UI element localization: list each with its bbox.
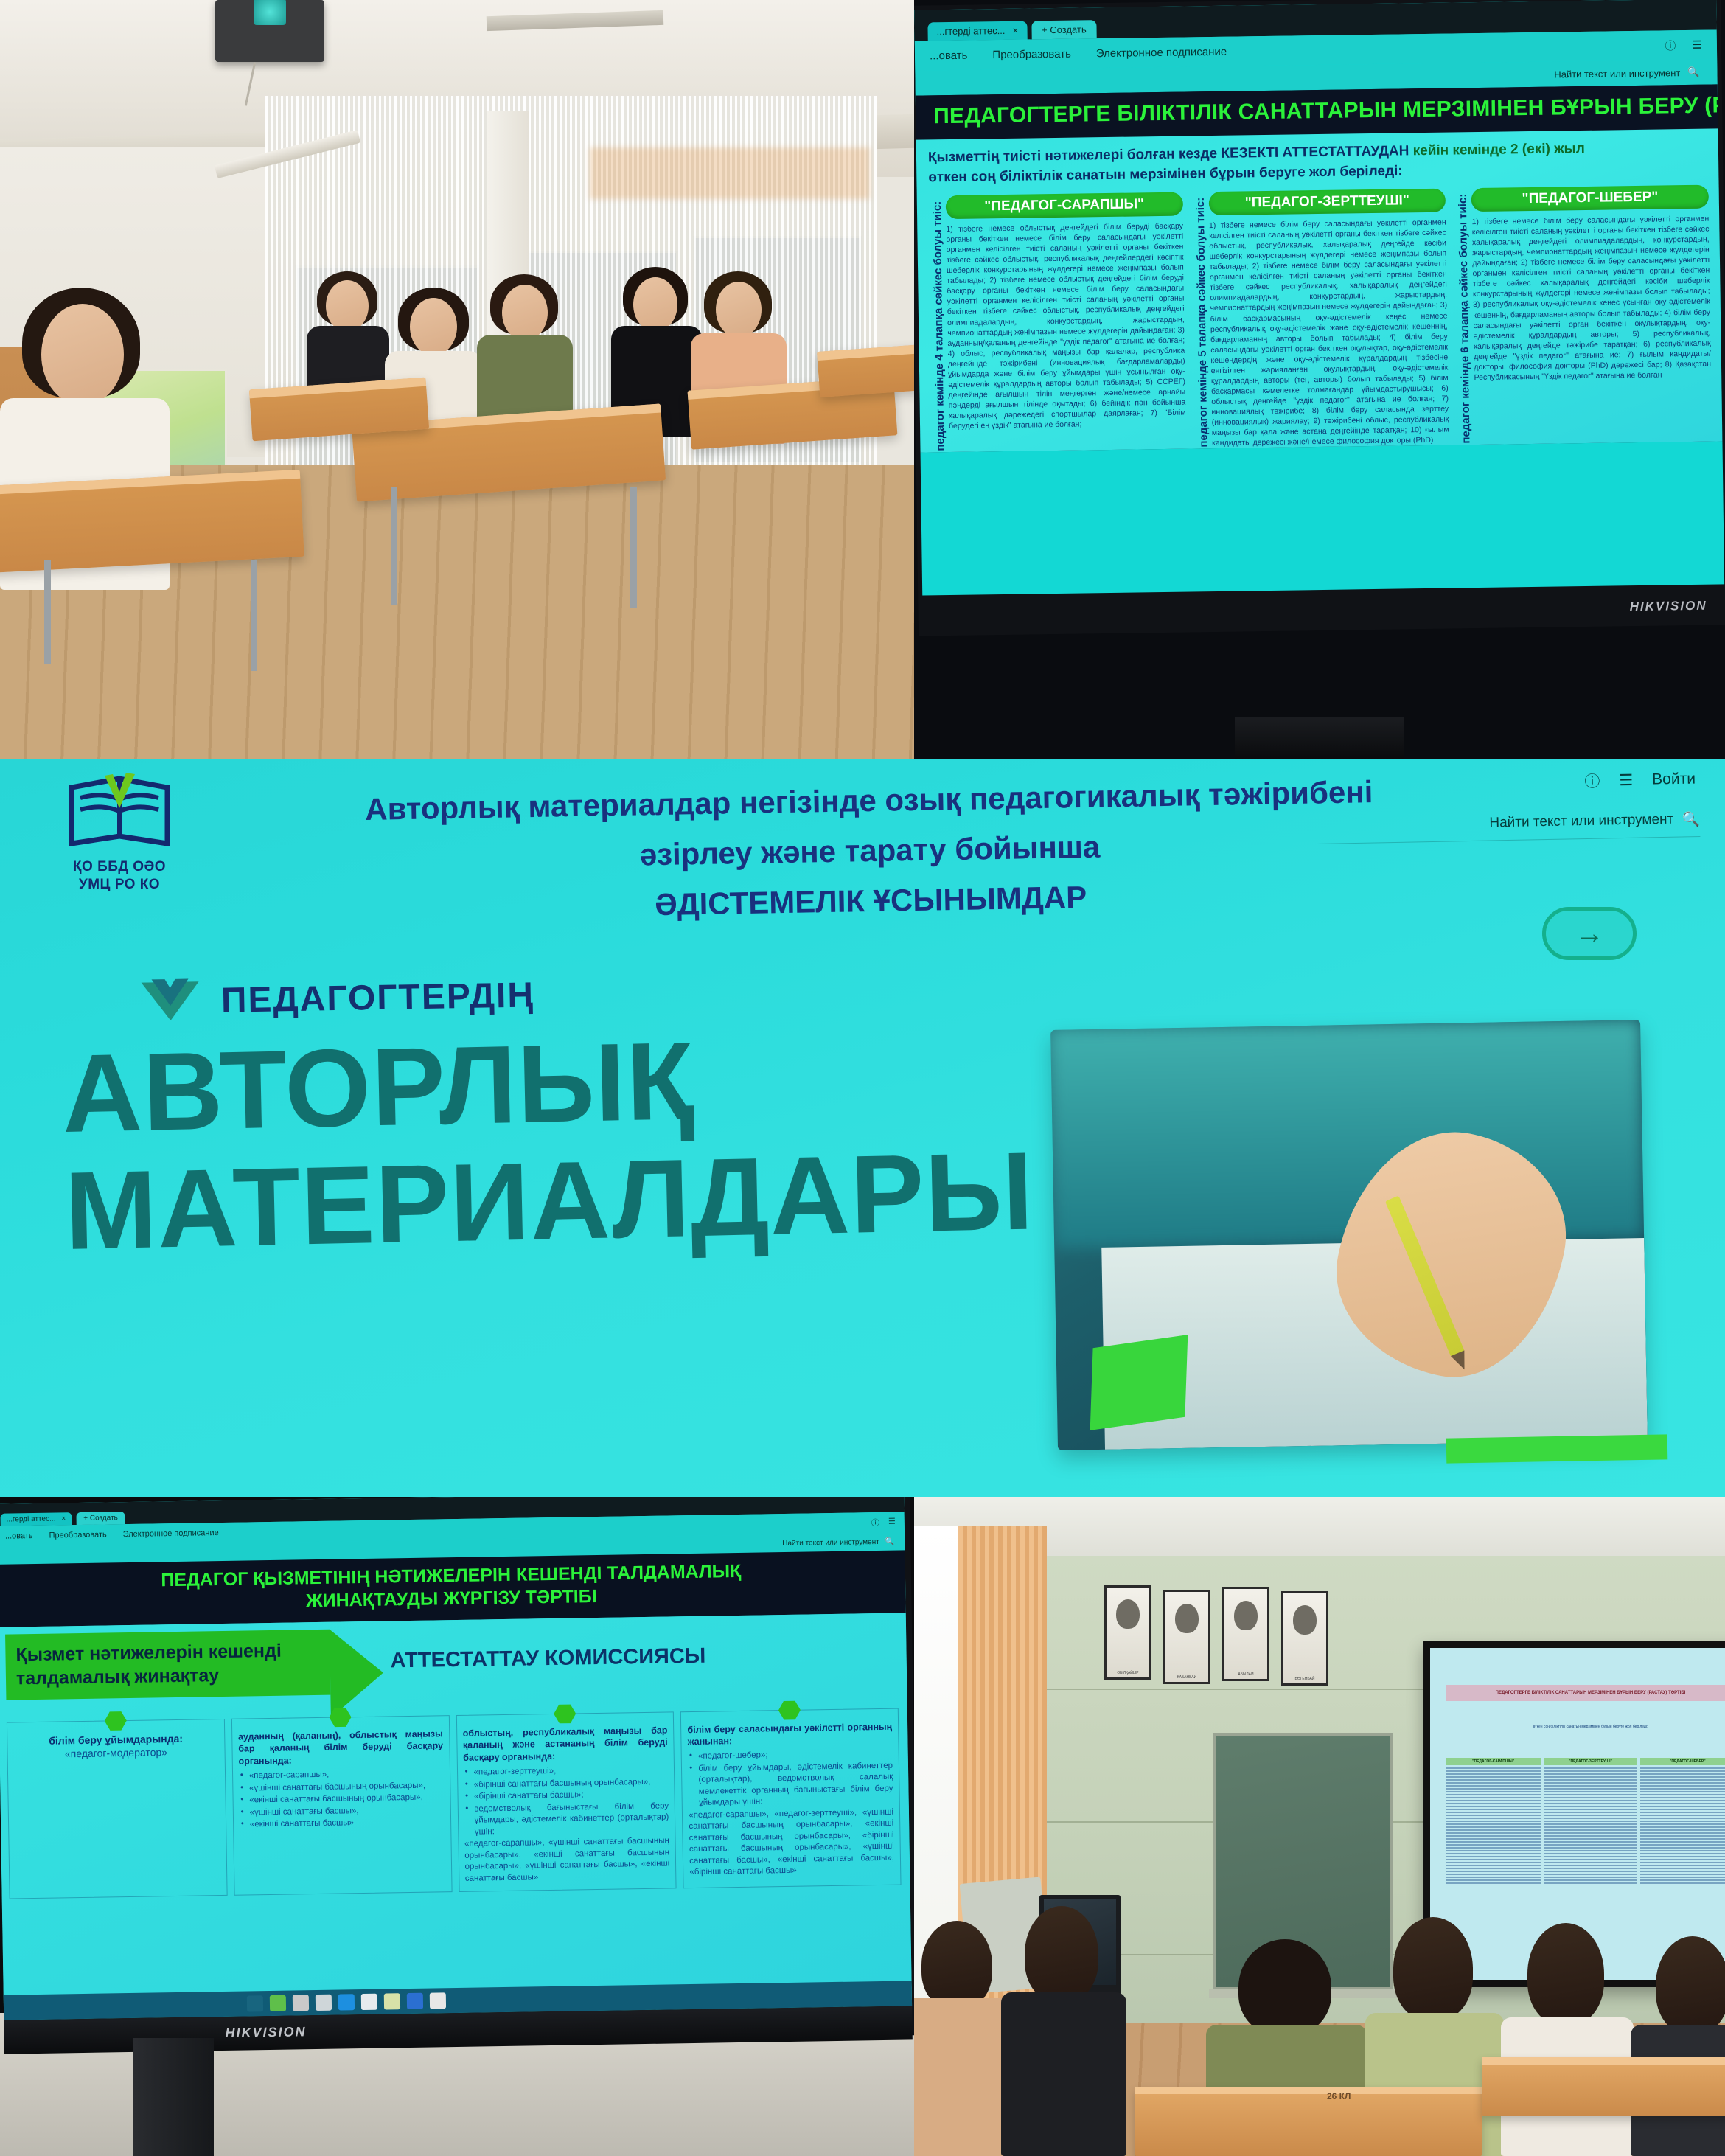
portrait-name: БӨГЕНБАЙ	[1283, 1677, 1326, 1681]
column-header: "ПЕДАГОГ-САРАПШЫ"	[1446, 1758, 1541, 1765]
brand-mark-row: ПЕДАГОГТЕРДІҢ	[139, 971, 534, 1025]
big-title-line-2: МАТЕРИАЛДАРЫ	[63, 1132, 1053, 1270]
column-text: 1) тізбеге немесе білім беру саласындағы…	[1472, 214, 1712, 383]
menu-item-esign[interactable]: Электронное подписание	[1096, 45, 1227, 59]
diagram-box: білім беру ұйымдарында: «педагог-модерат…	[7, 1718, 227, 1899]
diagram-box: білім беру саласындағы уәкілетті органны…	[680, 1708, 901, 1888]
diagram-box: ауданның (қаланың), облыстық маңызы бар …	[231, 1715, 452, 1896]
flow-row: Қызмет нәтижелерін кешенді талдамалық жи…	[5, 1620, 898, 1700]
new-tab-button[interactable]: + Создать	[1031, 20, 1097, 39]
column-text: 1) тізбеге немесе білім беру саласындағы…	[1209, 218, 1449, 449]
wall-portrait: АБЫЛАЙ	[1222, 1587, 1269, 1681]
column-vertical-label: педагог кемінде 4 талапқа сәйкес болуы т…	[929, 195, 949, 453]
logo-line-1: ҚО ББД ОӘО	[38, 858, 201, 876]
smartboard-column: "ПЕДАГОГ-САРАПШЫ"	[1446, 1758, 1541, 1885]
find-input[interactable]: Найти текст или инструмент	[782, 1537, 879, 1547]
lead-part-3: өткен соң біліктілік санатын мерзімінен …	[928, 163, 1403, 185]
new-tab-button[interactable]: + Создать	[76, 1512, 125, 1525]
box-header: облыстың, республикалық маңызы бар қалан…	[463, 1724, 669, 1764]
task-view-icon[interactable]	[247, 1995, 263, 2011]
edge-icon[interactable]	[338, 1994, 355, 2010]
slide-headline: Авторлық материалдар негізінде озық педа…	[345, 767, 1394, 936]
hexagon-bullet-icon	[554, 1704, 576, 1723]
ceiling-projector	[215, 0, 324, 62]
slide-body: Қызметтің тиісті нәтижелері болған кезде…	[916, 128, 1723, 452]
monitor-screen: ...ғтерді аттес... × + Создать ...овать …	[914, 0, 1724, 596]
photos-icon[interactable]	[316, 1995, 332, 2011]
logo-line-2: УМЦ РО КО	[38, 876, 201, 894]
open-book-with-checkmark-icon	[64, 773, 175, 854]
browser-tab[interactable]: ...ғтерді аттес... ×	[927, 21, 1027, 41]
slide-body: Қызмет нәтижелерін кешенді талдамалық жи…	[0, 1613, 912, 2003]
text-lines	[1446, 1767, 1541, 1884]
search-icon[interactable]: 🔍	[1687, 66, 1699, 78]
box-header: білім беру саласындағы уәкілетті органны…	[687, 1720, 892, 1748]
lead-emphasis: КЕЗЕКТІ АТТЕСТАТТАУДАН	[1221, 143, 1409, 161]
column-text: 1) тізбеге немесе облыстық деңгейдегі бі…	[946, 221, 1186, 432]
diagram-box: облыстың, республикалық маңызы бар қалан…	[456, 1711, 676, 1892]
text-lines	[1640, 1767, 1725, 1884]
hexagon-bullet-icon	[778, 1700, 801, 1719]
commission-label: АТТЕСТАТТАУ КОМИССИЯСЫ	[390, 1644, 705, 1673]
menu-item-esign[interactable]: Электронное подписание	[123, 1529, 219, 1539]
wall-portrait: ҚАБАНБАЙ	[1163, 1590, 1210, 1684]
column-header: "ПЕДАГОГ-ЗЕРТТЕУШІ"	[1208, 189, 1446, 215]
projected-title-slide-photo: ⓘ ☰ Войти Найти текст или инструмент 🔍 Қ…	[0, 759, 1725, 1497]
student-desk	[0, 470, 304, 573]
requirement-column: педагог кемінде 6 талапқа сәйкес болуы т…	[1454, 185, 1712, 445]
search-icon[interactable]: 🔍	[1682, 810, 1700, 828]
brand-text: ПЕДАГОГТЕРДІҢ	[221, 975, 535, 1020]
find-input[interactable]: Найти текст или инструмент	[1554, 67, 1680, 80]
classroom-desk	[1482, 2057, 1725, 2116]
box-subtext: «педагог-модератор»	[13, 1745, 218, 1762]
box-list: «педагог-шебер»; білім беру ұйымдары, әд…	[688, 1748, 893, 1809]
classroom-smartboard-photo: ӘБІЛҚАЙЫР ҚАБАНБАЙ АБЫЛАЙ БӨГЕНБАЙ ПЕДАГ…	[914, 1497, 1725, 2156]
photo-collage: ...ғтерді аттес... × + Создать ...овать …	[0, 0, 1725, 2156]
column-header: "ПЕДАГОГ-ШЕБЕР"	[1471, 185, 1709, 212]
diagram-boxes: білім беру ұйымдарында: «педагог-модерат…	[7, 1708, 902, 1899]
office-icon[interactable]	[407, 1993, 423, 2009]
chevron-logo-icon	[139, 977, 201, 1025]
monitor-stand	[133, 2038, 214, 2156]
find-input[interactable]: Найти текст или инструмент	[1489, 811, 1673, 831]
monitor-brand-label: HIKVISION	[1630, 599, 1707, 614]
search-icon[interactable]: 🔍	[885, 1537, 895, 1545]
menu-item-0[interactable]: ...овать	[930, 49, 968, 62]
lead-part-2: кейін кемінде 2 (екі) жыл	[1413, 141, 1586, 159]
store-icon[interactable]	[293, 1995, 309, 2011]
portrait-name: АБЫЛАЙ	[1224, 1672, 1267, 1677]
text-lines	[1544, 1767, 1638, 1884]
next-slide-button[interactable]: →	[1542, 907, 1637, 960]
chrome-icon[interactable]	[270, 1995, 286, 2011]
green-accent-square	[1090, 1335, 1188, 1430]
column-header: "ПЕДАГОГ-ЗЕРТТЕУШІ"	[1544, 1758, 1638, 1765]
wall-portrait: ӘБІЛҚАЙЫР	[1104, 1585, 1151, 1680]
mail-icon[interactable]	[361, 1994, 377, 2010]
monitor-body: ...герді аттес... × + Создать ...овать П…	[0, 1497, 914, 2050]
page-title: АВТОРЛЫҚ МАТЕРИАЛДАРЫ	[61, 1015, 1053, 1270]
column-header: "ПЕДАГОГ-ШЕБЕР"	[1640, 1758, 1725, 1765]
monitor-screen: ...герді аттес... × + Создать ...овать П…	[0, 1497, 912, 2020]
file-explorer-icon[interactable]	[384, 1993, 400, 2009]
portrait-name: ҚАБАНБАЙ	[1165, 1675, 1208, 1680]
tab-label: ...герді аттес...	[7, 1515, 56, 1524]
classroom-audience-photo	[0, 0, 914, 759]
pdf-icon[interactable]	[430, 1992, 446, 2009]
requirement-column: педагог кемінде 4 талапқа сәйкес болуы т…	[929, 192, 1187, 453]
flow-chevron: Қызмет нәтижелерін кешенді талдамалық жи…	[5, 1629, 330, 1700]
list-icon[interactable]: ☰	[888, 1517, 896, 1529]
list-item: ведомстволық бағыныстағы білім беру ұйым…	[464, 1801, 669, 1838]
browser-tab[interactable]: ...герді аттес... ×	[0, 1512, 72, 1526]
smartboard-slide-title: ПЕДАГОГТЕРГЕ БІЛІКТІЛІК САНАТТАРЫН МЕРЗІ…	[1446, 1685, 1725, 1701]
smartboard-columns: "ПЕДАГОГ-САРАПШЫ" "ПЕДАГОГ-ЗЕРТТЕУШІ"	[1446, 1758, 1725, 1885]
desk-label: 26 КЛ	[1327, 2091, 1351, 2101]
arrow-right-icon: →	[1575, 917, 1604, 950]
box-list: «педагог-зерттеуші», «бірінші санаттағы …	[463, 1764, 669, 1838]
requirement-column: педагог кемінде 5 талапқа сәйкес болуы т…	[1191, 189, 1449, 449]
box-header: ауданның (қаланың), облыстық маңызы бар …	[238, 1728, 444, 1768]
monitor-presentation-photo: ...ғтерді аттес... × + Создать ...овать …	[914, 0, 1725, 759]
question-circle-icon[interactable]: ⓘ	[871, 1517, 879, 1529]
menu-item-convert[interactable]: Преобразовать	[49, 1530, 107, 1540]
lead-part-1: Қызметтің тиісті нәтижелері болған кезде	[928, 146, 1217, 165]
column-vertical-label: педагог кемінде 5 талапқа сәйкес болуы т…	[1191, 192, 1212, 449]
menu-item-0[interactable]: ...овать	[5, 1531, 33, 1541]
classroom-desk	[1135, 2087, 1482, 2156]
box-flow-text: «педагог-сарапшы», «педагог-зерттеуші», …	[689, 1807, 894, 1879]
box-list: «педагог-сарапшы», «үшінші санаттағы бас…	[239, 1767, 445, 1831]
window-warm-glow	[590, 147, 870, 199]
question-circle-icon[interactable]: ⓘ	[1584, 770, 1600, 792]
question-circle-icon[interactable]: ⓘ	[1665, 38, 1676, 53]
requirement-columns: педагог кемінде 4 талапқа сәйкес болуы т…	[929, 185, 1712, 453]
monitor-stand	[1235, 717, 1404, 759]
monitor-body: ...ғтерді аттес... × + Создать ...овать …	[914, 0, 1725, 636]
list-icon[interactable]: ☰	[1619, 771, 1633, 789]
list-item: білім беру ұйымдары, әдістемелік кабинет…	[688, 1760, 893, 1809]
hexagon-bullet-icon	[105, 1711, 127, 1731]
wall-portrait: БӨГЕНБАЙ	[1281, 1591, 1328, 1686]
smartboard-slide-subtitle: өткен соң біліктілік санатын мерзімінен …	[1446, 1725, 1725, 1730]
column-header: "ПЕДАГОГ-САРАПШЫ"	[946, 192, 1183, 219]
monitor-diagram-slide-photo: ...герді аттес... × + Создать ...овать П…	[0, 1497, 914, 2156]
portrait-name: ӘБІЛҚАЙЫР	[1107, 1671, 1149, 1675]
smartboard-column: "ПЕДАГОГ-ЗЕРТТЕУШІ"	[1544, 1758, 1638, 1885]
monitor-brand-label: HIKVISION	[225, 2024, 306, 2041]
organization-logo: ҚО ББД ОӘО УМЦ РО КО	[38, 773, 201, 891]
box-flow-text: «педагог-сарапшы», «үшінші санаттағы бас…	[464, 1836, 670, 1885]
slide-lead: Қызметтің тиісті нәтижелері болған кезде…	[928, 138, 1709, 189]
login-button[interactable]: Войти	[1652, 771, 1696, 789]
close-icon[interactable]: ×	[61, 1515, 66, 1523]
close-icon[interactable]: ×	[1012, 25, 1018, 36]
list-icon[interactable]: ☰	[1692, 38, 1702, 52]
tab-label: ...ғтерді аттес...	[936, 25, 1005, 37]
list-item: «екінші санаттағы басшы»	[240, 1816, 445, 1831]
slide-content: ПЕДАГОГТЕРГЕ БІЛІКТІЛІК САНАТТАРЫН МЕРЗІ…	[916, 84, 1723, 452]
green-accent-stripe	[1446, 1434, 1668, 1463]
menu-item-convert[interactable]: Преобразовать	[992, 47, 1071, 60]
smartboard-column: "ПЕДАГОГ-ШЕБЕР"	[1640, 1758, 1725, 1885]
